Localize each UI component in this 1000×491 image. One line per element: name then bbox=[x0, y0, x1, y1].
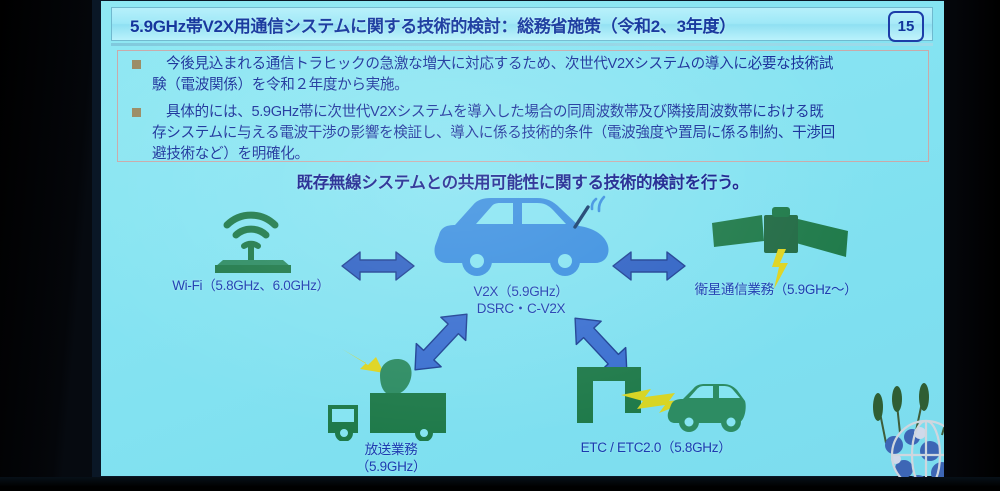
slide-title-bar: 5.9GHz帯V2X用通信システムに関する技術的検討：総務省施策（令和2、3年度… bbox=[111, 7, 933, 41]
node-sat: 衛星通信業務（5.9GHz～） bbox=[661, 201, 891, 321]
satellite-icon bbox=[706, 201, 856, 293]
node-bc: 放送業務 （5.9GHz） bbox=[286, 339, 496, 469]
node-v2x: V2X（5.9GHz） DSRC・C-V2X bbox=[401, 191, 641, 321]
bullet-square-icon bbox=[132, 60, 141, 69]
bullet-item: 具体的には、5.9GHz帯に次世代V2Xシステムを導入した場合の同周波数帯及び隣… bbox=[118, 99, 928, 168]
caption-line: 衛星通信業務（5.9GHz～） bbox=[695, 281, 858, 298]
bullet-square-icon bbox=[132, 108, 141, 117]
page-title: 5.9GHz帯V2X用通信システムに関する技術的検討：総務省施策（令和2、3年度… bbox=[130, 12, 736, 37]
node-caption: Wi-Fi（5.8GHz、6.0GHz） bbox=[172, 277, 330, 294]
bullet-line: 験（電波関係）を令和２年度から実施。 bbox=[152, 75, 916, 96]
caption-line: V2X（5.9GHz） bbox=[474, 283, 569, 300]
bullet-line: 具体的には、5.9GHz帯に次世代V2Xシステムを導入した場合の同周波数帯及び隣… bbox=[152, 102, 916, 123]
caption-line: ETC / ETC2.0（5.8GHz） bbox=[581, 439, 732, 456]
summary-textbox: 今後見込まれる通信トラヒックの急激な増大に対応するため、次世代V2Xシステムの導… bbox=[117, 50, 929, 162]
node-caption: 衛星通信業務（5.9GHz～） bbox=[695, 281, 858, 298]
bullet-text: 今後見込まれる通信トラヒックの急激な増大に対応するため、次世代V2Xシステムの導… bbox=[152, 54, 916, 96]
caption-line: 放送業務 bbox=[356, 441, 426, 458]
broadcast-truck-icon bbox=[314, 339, 469, 441]
title-divider bbox=[111, 43, 933, 46]
coexistence-diagram: Wi-Fi（5.8GHz、6.0GHz） bbox=[101, 191, 944, 476]
node-etc: ETC / ETC2.0（5.8GHz） bbox=[531, 351, 781, 471]
node-caption: 放送業務 （5.9GHz） bbox=[356, 441, 426, 475]
bullet-line: 今後見込まれる通信トラヒックの急激な増大に対応するため、次世代V2Xシステムの導… bbox=[152, 54, 916, 75]
bottom-dark-edge bbox=[0, 477, 1000, 491]
bullet-line: 存システムに与える電波干渉の影響を検証し、導入に係る技術的条件（電波強度や置局に… bbox=[152, 123, 916, 144]
bullet-item: 今後見込まれる通信トラヒックの急激な増大に対応するため、次世代V2Xシステムの導… bbox=[118, 51, 928, 99]
bullet-line: 避技術など）を明確化。 bbox=[152, 144, 916, 165]
slide-canvas: 5.9GHz帯V2X用通信システムに関する技術的検討：総務省施策（令和2、3年度… bbox=[101, 1, 944, 476]
caption-line: Wi-Fi（5.8GHz、6.0GHz） bbox=[172, 277, 330, 294]
center-heading: 既存無線システムとの共用可能性に関する技術的検討を行う。 bbox=[101, 169, 944, 193]
etc-gantry-car-icon bbox=[563, 351, 748, 443]
right-dark-edge bbox=[944, 0, 1000, 491]
wifi-router-icon bbox=[199, 197, 303, 273]
car-antenna-icon bbox=[429, 191, 614, 283]
bullet-text: 具体的には、5.9GHz帯に次世代V2Xシステムを導入した場合の同周波数帯及び隣… bbox=[152, 102, 916, 165]
node-wifi: Wi-Fi（5.8GHz、6.0GHz） bbox=[161, 197, 341, 307]
node-caption: ETC / ETC2.0（5.8GHz） bbox=[581, 439, 732, 456]
caption-line: （5.9GHz） bbox=[356, 458, 426, 475]
node-caption: V2X（5.9GHz） DSRC・C-V2X bbox=[474, 283, 569, 317]
projected-slide-photo: 5.9GHz帯V2X用通信システムに関する技術的検討：総務省施策（令和2、3年度… bbox=[0, 0, 1000, 491]
caption-line: DSRC・C-V2X bbox=[474, 300, 569, 317]
slide-number-badge: 15 bbox=[888, 11, 924, 42]
